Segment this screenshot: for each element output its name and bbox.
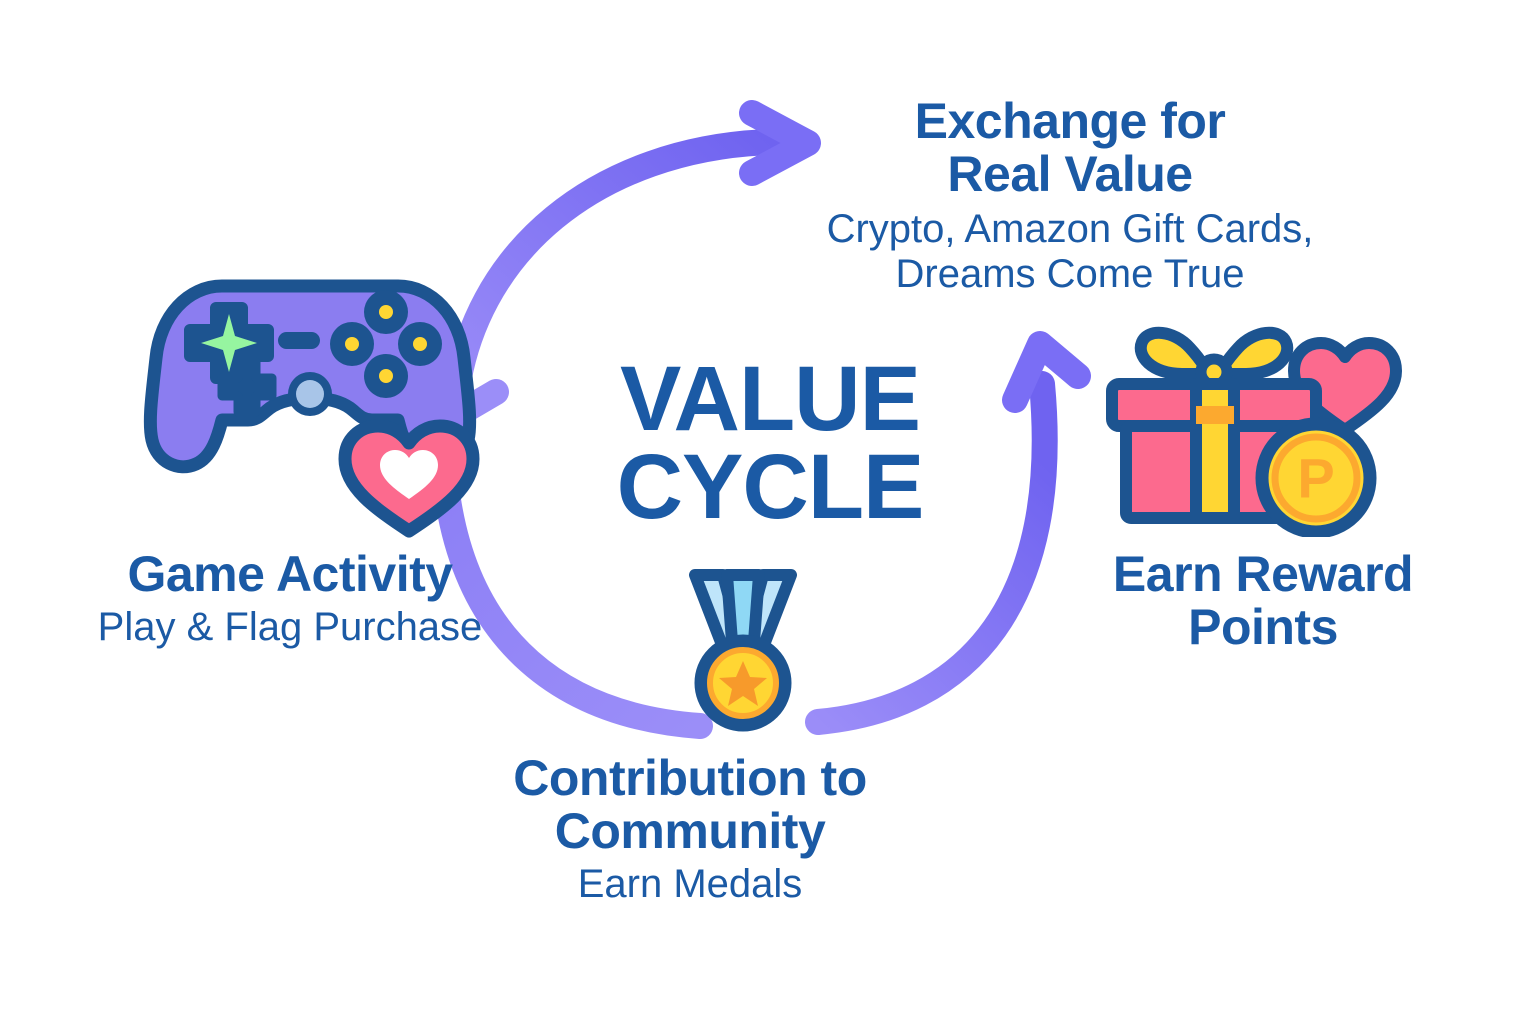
node-game-subtitle: Play & Flag Purchase [50,605,530,650]
node-reward-title: Earn Reward Points [1058,548,1468,654]
node-exchange: Exchange for Real Value Crypto, Amazon G… [790,95,1350,297]
node-exchange-subtitle: Crypto, Amazon Gift Cards, Dreams Come T… [790,207,1350,297]
heart-icon [335,417,483,539]
node-community-subtitle: Earn Medals [455,862,925,907]
minus-button-icon [278,332,320,349]
reward-icons-group: P [1098,322,1408,537]
node-game-activity: Game Activity Play & Flag Purchase [50,548,530,650]
node-earn-reward-points: Earn Reward Points [1058,548,1468,654]
node-community-title: Contribution to Community [455,752,925,858]
points-coin-icon: P [1262,424,1370,532]
center-title: VALUE CYCLE [560,355,980,532]
node-contribution-community: Contribution to Community Earn Medals [455,752,925,907]
coin-letter: P [1297,447,1334,510]
node-game-title: Game Activity [50,548,530,601]
medal-icon [683,565,803,735]
node-exchange-title: Exchange for Real Value [790,95,1350,201]
value-cycle-diagram: VALUE CYCLE [0,0,1536,1024]
joystick-icon [296,380,324,408]
